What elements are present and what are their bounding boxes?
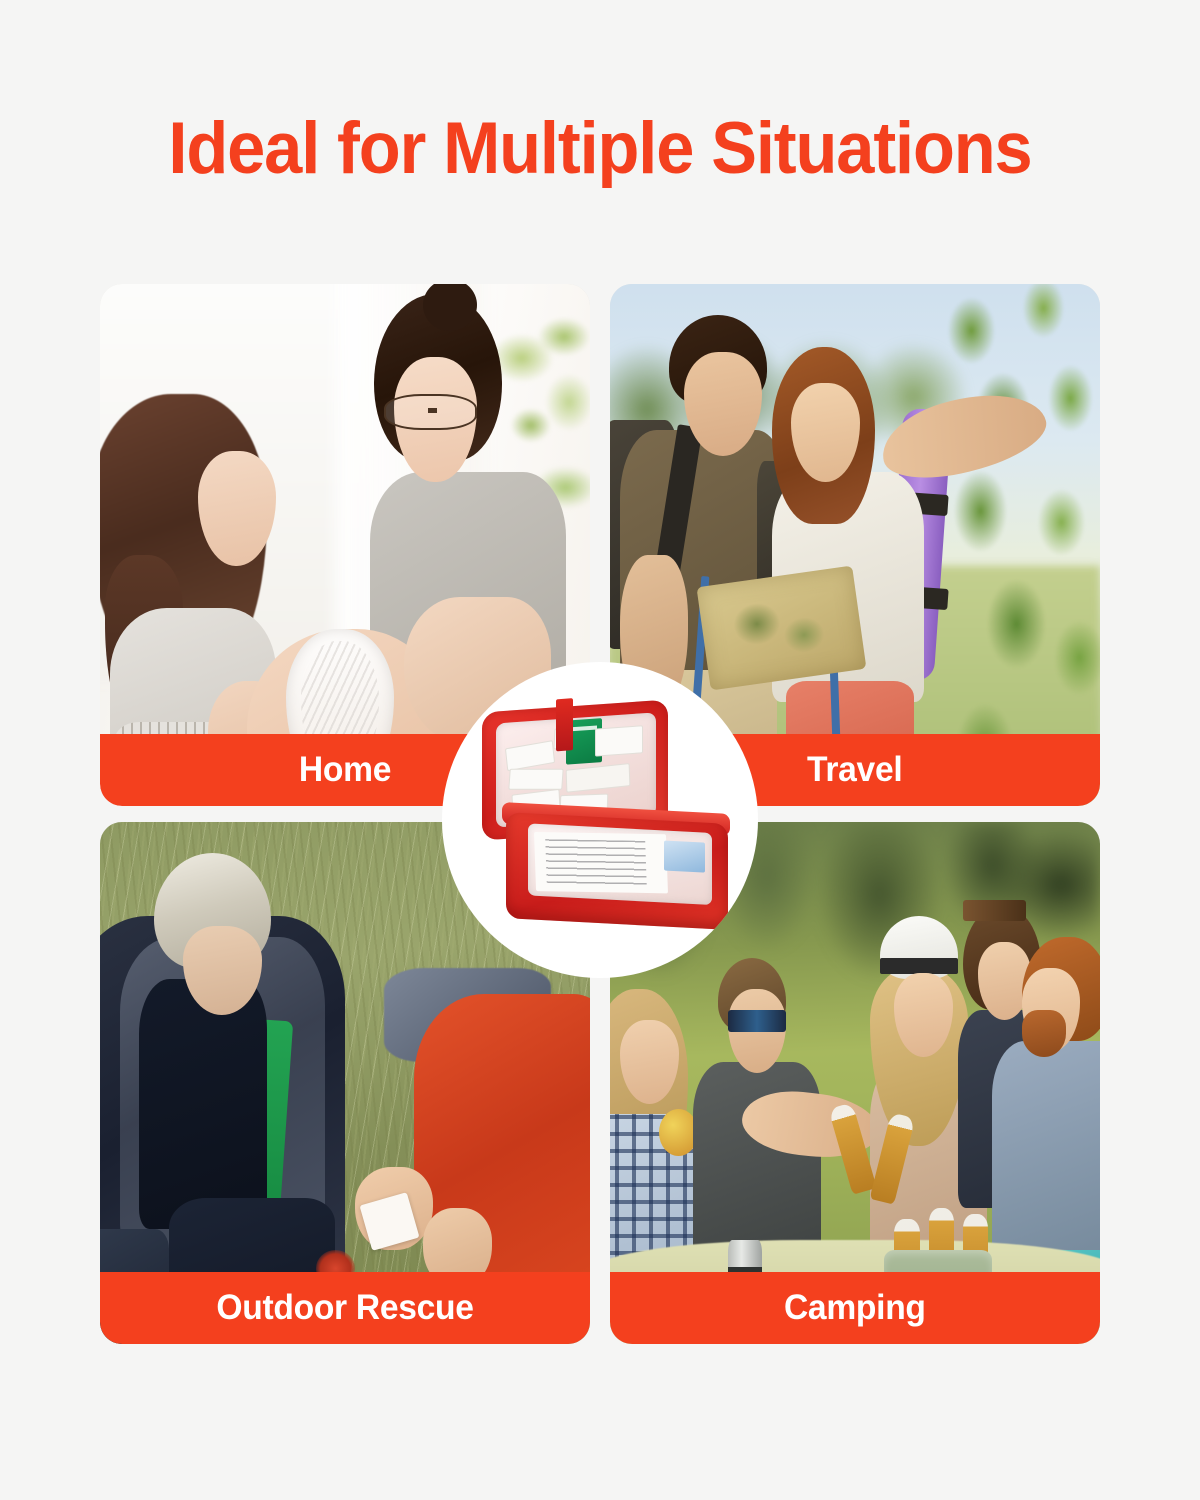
friend5-shirt (992, 1041, 1100, 1271)
caption-label-camping: Camping (784, 1288, 926, 1328)
kit-lid-strap (556, 698, 573, 750)
kit-base (506, 812, 728, 930)
kit-item (505, 740, 555, 771)
friend2-sunglasses (728, 1010, 787, 1032)
marketing-banner: Ideal for Multiple Situations (0, 0, 1200, 1500)
kit-instruction-leaflet (534, 832, 668, 893)
product-badge-circle (442, 662, 758, 978)
caption-label-home: Home (299, 750, 391, 790)
friend4-sunglasses-on-head (963, 900, 1027, 921)
friend5-beard (1022, 1010, 1066, 1057)
apple (659, 1109, 698, 1156)
caption-label-outdoor-rescue: Outdoor Rescue (216, 1288, 473, 1328)
caption-label-travel: Travel (807, 750, 902, 790)
kit-item (508, 769, 564, 790)
first-aid-kit-image (466, 706, 734, 934)
caption-bar-camping: Camping (610, 1272, 1100, 1344)
woman-glasses (384, 394, 477, 431)
patient-inner-top (139, 979, 266, 1230)
kit-item (595, 726, 643, 756)
kit-base-mesh-window (528, 823, 712, 905)
friend3-hat-band (880, 958, 958, 975)
caption-bar-outdoor-rescue: Outdoor Rescue (100, 1272, 590, 1344)
kit-blue-package (664, 841, 704, 873)
page-title: Ideal for Multiple Situations (36, 112, 1164, 185)
kit-item (566, 763, 631, 793)
